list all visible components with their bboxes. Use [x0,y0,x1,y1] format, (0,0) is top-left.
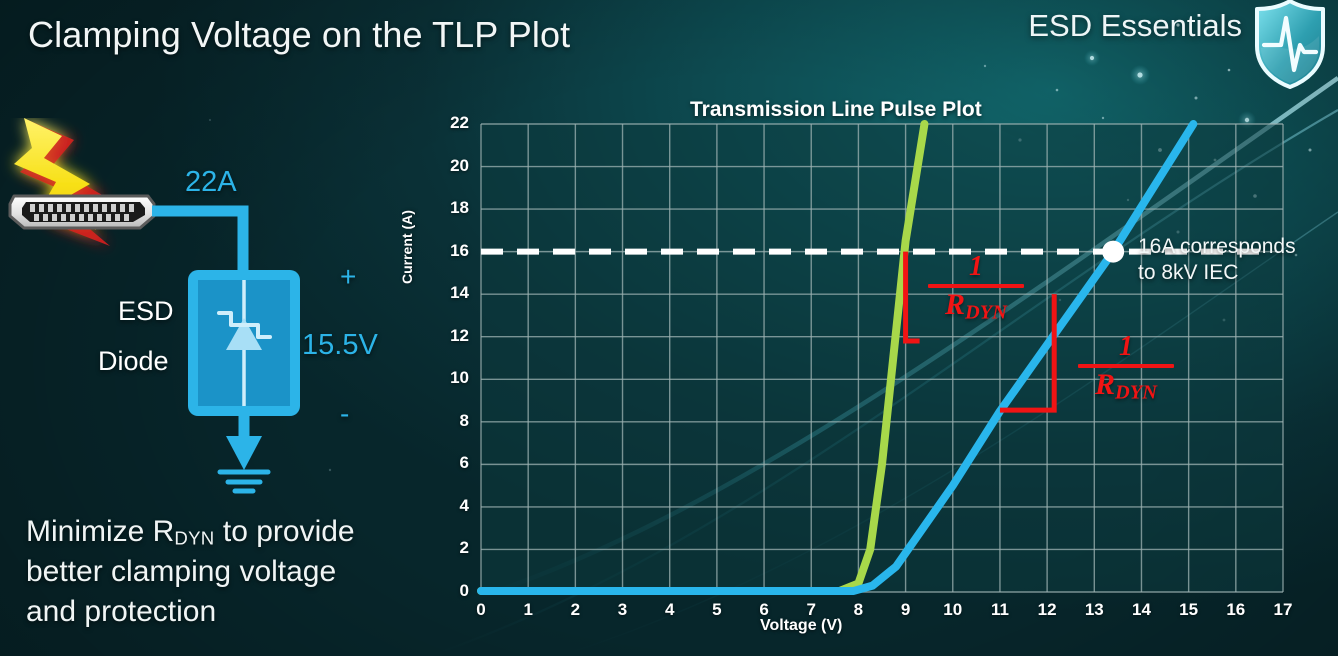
caption-line2: better clamping voltage [26,555,336,588]
rdyn-base-steep: R [945,288,965,321]
caption-line1-a: Minimize R [26,515,174,548]
fraction-bar-shallow [1078,364,1174,368]
current-arrow-icon [226,436,262,470]
clamping-voltage-label: 15.5V [302,329,378,362]
hdmi-connector-icon [10,196,154,228]
device-label-line1: ESD [118,296,174,327]
slope-numerator-steep: 1 [928,253,1024,281]
fraction-bar-steep [928,284,1024,288]
slope-formula-shallow: 1 RDYN [1078,333,1174,404]
rdyn-sub-shallow: DYN [1115,381,1157,403]
surge-current-label: 22A [185,166,237,199]
marker-annotation: 16A corresponds to 8kV IEC [1138,234,1296,285]
slope-denominator-shallow: RDYN [1078,369,1174,404]
slope-denominator-steep: RDYN [928,289,1024,324]
polarity-plus-label: + [340,261,356,293]
slide-canvas: Clamping Voltage on the TLP Plot ESD Ess… [0,0,1338,656]
shield-heartbeat-icon [1248,0,1332,92]
polarity-minus-label: - [340,398,349,430]
tvs-diode-symbol [188,270,300,416]
slope-numerator-shallow: 1 [1078,333,1174,361]
rdyn-base-shallow: R [1095,368,1115,401]
caption-line1-b: to provide [215,515,355,548]
device-label-line2: Diode [98,346,169,377]
slope-formula-steep: 1 RDYN [928,253,1024,324]
page-title: Clamping Voltage on the TLP Plot [28,14,570,56]
marker-annotation-line1: 16A corresponds [1138,234,1296,260]
caption-line1-subscript: DYN [174,527,214,548]
rdyn-sub-steep: DYN [965,301,1007,323]
marker-annotation-line2: to 8kV IEC [1138,260,1296,286]
summary-caption: Minimize RDYN to provide better clamping… [26,512,446,632]
ground-symbol-icon [220,472,268,491]
data-point-marker [1102,241,1124,263]
tlp-chart: Transmission Line Pulse Plot Current (A)… [405,88,1305,648]
esd-protection-diagram: 22A 15.5V + - ESD Diode [0,118,420,508]
brand-label: ESD Essentials [1028,8,1242,44]
caption-line3: and protection [26,595,216,628]
